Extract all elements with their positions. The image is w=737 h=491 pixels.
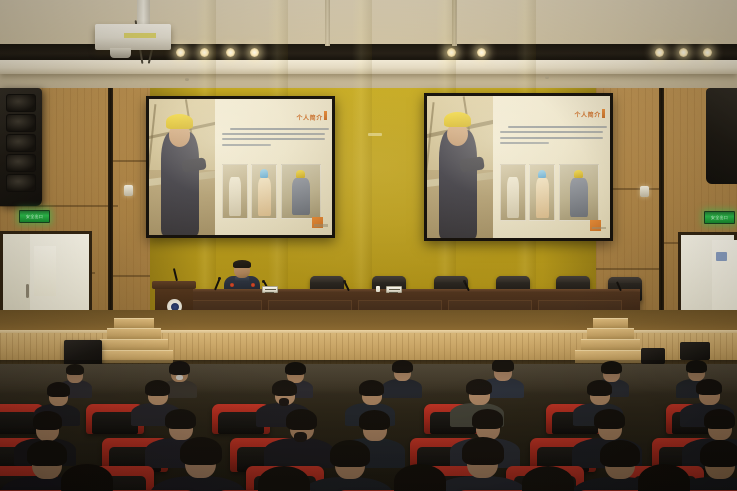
audience-member	[246, 474, 316, 491]
left-projection-screen: 个人简介	[146, 96, 335, 238]
line-array-speaker-left	[0, 88, 42, 206]
panel-reveal	[108, 88, 113, 336]
panel-seam	[113, 275, 150, 277]
stage-steps-left[interactable]	[95, 318, 173, 366]
auditorium-photo: 安全出口 安全出口	[0, 0, 737, 491]
floor-monitor-speaker-right	[680, 342, 710, 360]
stage-steps-right[interactable]	[575, 318, 645, 366]
audience-member	[690, 446, 737, 491]
slide-thumbnail-3	[281, 164, 321, 218]
exit-sign-left: 安全出口	[19, 210, 50, 223]
slide-title-left: 个人简介	[296, 113, 322, 122]
slide-hero-photo	[427, 96, 493, 238]
audience-member	[626, 472, 696, 491]
slide-thumbnail-2	[251, 164, 277, 218]
audience-member	[388, 363, 416, 392]
doorway-sign-right	[716, 252, 727, 261]
uniform-badge	[230, 283, 234, 287]
microphone-head	[343, 280, 346, 283]
ceiling-spot-light	[226, 48, 235, 57]
ceiling-spot-light	[250, 48, 259, 57]
microphone-head	[262, 280, 265, 283]
exit-sign-label-left: 安全出口	[26, 215, 43, 219]
slide-title-accent	[602, 109, 605, 118]
table-nameplate	[386, 286, 402, 293]
projector-lens	[110, 48, 131, 58]
water-cup	[376, 286, 380, 292]
smoke-detector-icon	[545, 76, 549, 79]
audience-member	[452, 444, 508, 491]
projector-mount	[137, 0, 150, 26]
wall-sconce-left	[124, 185, 133, 196]
panel-reveal	[659, 88, 664, 338]
slide-title-right: 个人简介	[574, 110, 600, 119]
slide-thumbnail-1	[222, 164, 248, 218]
door-handle-left[interactable]	[26, 284, 29, 298]
ceiling-spot-light	[477, 48, 486, 57]
audience-member	[50, 472, 118, 491]
ceiling-spot-light	[703, 48, 712, 57]
wall-sconce-right	[640, 186, 649, 197]
slide-thumbnail-3	[559, 164, 599, 221]
table-nameplate	[262, 286, 278, 293]
microphone-head	[463, 280, 466, 283]
audience-area	[0, 360, 737, 491]
slide-left: 个人简介	[149, 99, 332, 235]
exit-sign-right: 安全出口	[704, 211, 735, 224]
ceiling-spot-light	[655, 48, 664, 57]
slide-thumbnail-1	[500, 164, 526, 221]
right-projection-screen: 个人简介	[424, 93, 613, 241]
ceiling-spot-light	[176, 48, 185, 57]
ceiling-spot-light	[679, 48, 688, 57]
audience-member	[382, 472, 452, 491]
slide-body-right	[500, 126, 603, 148]
panel-seam	[596, 268, 659, 270]
exit-sign-label-right: 安全出口	[711, 216, 728, 220]
smoke-detector-icon	[185, 78, 189, 81]
audience-member	[320, 446, 374, 491]
doorway-light-left	[34, 246, 56, 296]
slide-body-left	[222, 128, 325, 150]
backdrop-tag	[368, 133, 382, 136]
projector-label-strip	[124, 33, 156, 38]
slide-logo-text-right	[592, 227, 606, 230]
line-array-speaker-right	[706, 88, 737, 184]
slide-hero-photo	[149, 99, 215, 235]
audience-member	[170, 444, 226, 491]
slide-right: 个人简介	[427, 96, 610, 238]
uniform-badge	[251, 283, 255, 287]
slide-thumbnail-2	[529, 164, 555, 221]
slide-title-accent	[324, 111, 327, 120]
ceiling-rib	[325, 0, 330, 46]
slide-logo-text-left	[314, 224, 328, 227]
microphone-head	[218, 277, 221, 280]
audience-member	[510, 474, 580, 491]
audience-member	[278, 414, 320, 458]
